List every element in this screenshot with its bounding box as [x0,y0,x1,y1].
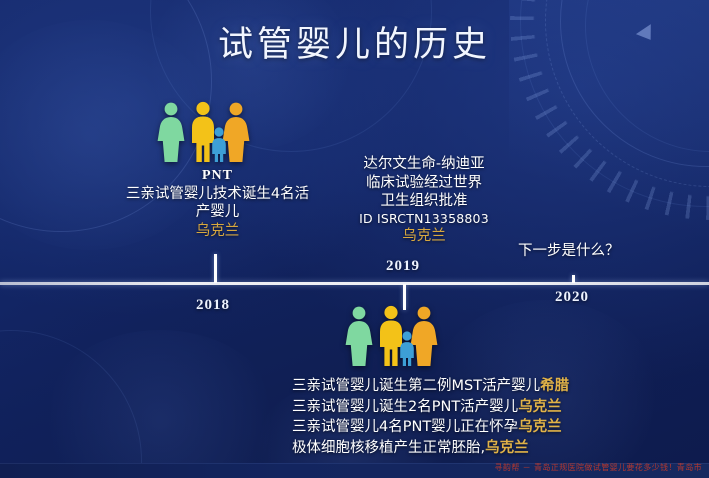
bottom-row-2-text: 三亲试管婴儿诞生2名PNT活产婴儿 [292,399,518,415]
bottom-row-2: 三亲试管婴儿诞生2名PNT活产婴儿乌克兰 [292,397,569,418]
bottom-row-2-country: 乌克兰 [518,399,562,415]
pnt-country: 乌克兰 [110,222,325,241]
darwin-line-3: 卫生组织批准 [334,192,514,211]
bottom-row-4-text: 极体细胞核移植产生正常胚胎, [292,440,485,456]
bg-ring [0,330,142,478]
bg-blob [40,330,280,478]
bottom-row-3: 三亲试管婴儿4名PNT婴儿正在怀孕乌克兰 [292,417,569,438]
timeline-axis [0,282,709,285]
watermark-text: 寻韵帮 － 青岛正规医院做试管婴儿要花多少钱！青岛市 [495,462,702,473]
pnt-line-2: 产婴儿 [110,203,325,222]
timeline-year-2020: 2020 [555,289,589,306]
pnt-line-1: 三亲试管婴儿技术诞生4名活 [110,185,325,204]
bottom-row-1: 三亲试管婴儿诞生第二例MST活产婴儿希腊 [292,376,569,397]
family-group-icon [345,305,441,372]
page-title: 试管婴儿的历史 [0,16,709,67]
family-group-icon [157,101,253,168]
bottom-row-4: 极体细胞核移植产生正常胚胎,乌克兰 [292,438,569,459]
slide-canvas: 试管婴儿的历史 PNT [0,0,709,478]
timeline-tick-2018 [214,254,217,283]
timeline-year-2019: 2019 [386,258,420,275]
bottom-row-1-text: 三亲试管婴儿诞生第二例MST活产婴儿 [292,378,540,394]
darwin-trial-id: ID ISRCTN13358803 [334,211,514,227]
bottom-row-3-country: 乌克兰 [518,419,562,435]
bottom-row-1-country: 希腊 [540,378,569,394]
timeline-tick-2020 [572,275,575,283]
pnt-heading: PNT [110,167,325,185]
timeline-year-2018: 2018 [196,297,230,314]
darwin-line-2: 临床试验经过世界 [334,174,514,193]
event-block-bottom: 三亲试管婴儿诞生第二例MST活产婴儿希腊 三亲试管婴儿诞生2名PNT活产婴儿乌克… [292,376,569,458]
darwin-line-1: 达尔文生命-纳迪亚 [334,155,514,174]
event-block-pnt: PNT 三亲试管婴儿技术诞生4名活 产婴儿 乌克兰 [110,167,325,241]
event-block-darwin: 达尔文生命-纳迪亚 临床试验经过世界 卫生组织批准 ID ISRCTN13358… [334,155,514,245]
bottom-row-4-country: 乌克兰 [485,440,529,456]
bottom-row-3-text: 三亲试管婴儿4名PNT婴儿正在怀孕 [292,419,518,435]
next-step-label: 下一步是什么？ [518,242,620,261]
darwin-country: 乌克兰 [334,227,514,246]
